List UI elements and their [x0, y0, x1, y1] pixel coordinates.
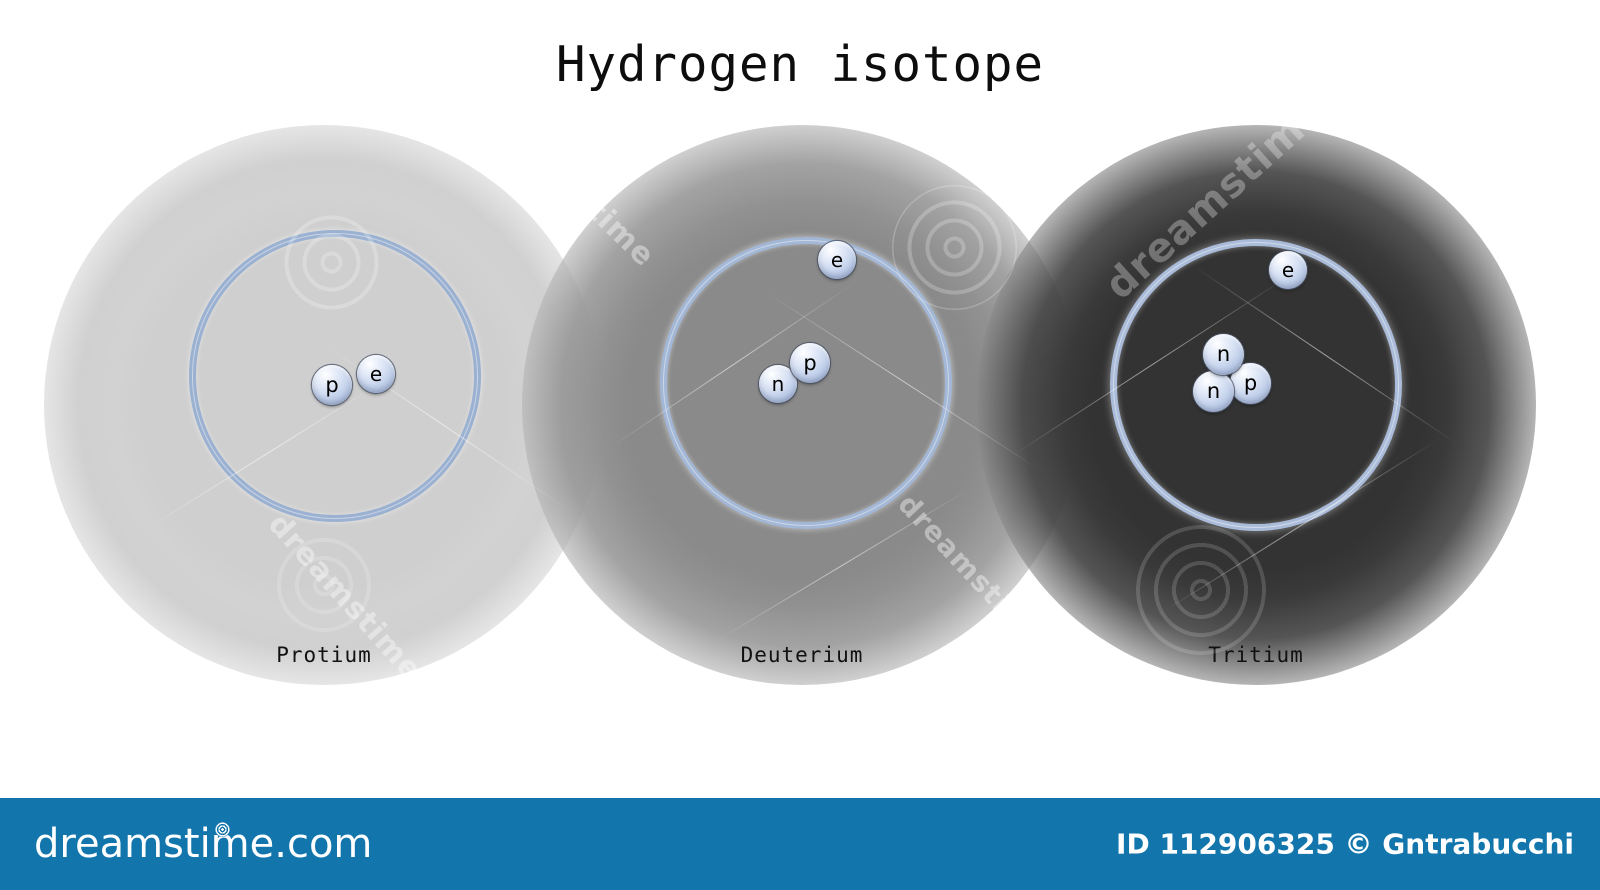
particle-label: e [370, 364, 382, 384]
particle-label: e [1282, 260, 1294, 280]
page-title: Hydrogen isotope [0, 36, 1600, 93]
atom-caption-protium: Protium [44, 643, 604, 667]
dreamstime-logo[interactable]: dreamstime.com [34, 821, 372, 867]
proton-particle: p [312, 365, 352, 405]
particle-label: n [1217, 344, 1230, 365]
illustration-canvas: Hydrogen isotope dreamstime e p Protium … [0, 0, 1600, 890]
dreamstime-spiral-icon [215, 822, 230, 837]
atom-tritium: dreamstime e n n p Tritium [976, 125, 1536, 685]
particle-label: n [1207, 381, 1220, 402]
particle-label: p [325, 375, 338, 396]
watermark-footer-bar: dreamstime.com ID 112906325 © Gntrabucch… [0, 798, 1600, 890]
atom-caption-tritium: Tritium [976, 643, 1536, 667]
electron-particle: e [357, 355, 395, 393]
proton-particle: p [790, 343, 830, 383]
neutron-particle: n [1203, 334, 1244, 375]
particle-label: p [803, 353, 816, 374]
brand-text: dreamstime.com [34, 821, 372, 867]
particle-label: n [772, 374, 785, 394]
image-id-credit: ID 112906325 © Gntrabucchi [1116, 828, 1574, 861]
neutron-particle: n [1193, 371, 1234, 412]
spiral-watermark-icon [253, 514, 395, 656]
particle-label: e [831, 250, 843, 270]
electron-particle: e [1269, 251, 1307, 289]
atom-protium: dreamstime e p Protium [44, 125, 604, 685]
electron-particle: e [818, 241, 856, 279]
electron-orbit-highlight [663, 240, 949, 526]
particle-label: p [1244, 373, 1257, 394]
